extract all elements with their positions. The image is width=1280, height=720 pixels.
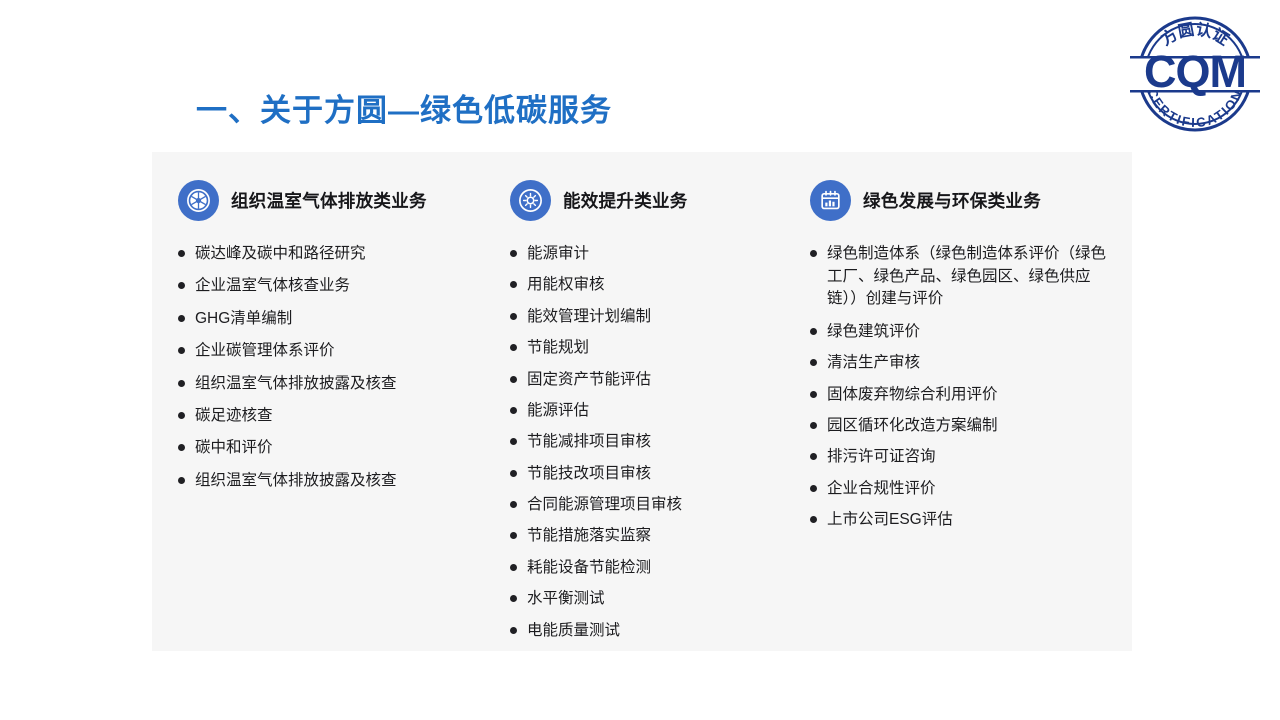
- sun-brightness-icon: [510, 180, 551, 221]
- list-item: 用能权审核: [510, 274, 780, 295]
- calendar-chart-icon: [810, 180, 851, 221]
- list-item: 水平衡测试: [510, 588, 780, 609]
- column-title: 组织温室气体排放类业务: [231, 188, 427, 213]
- service-list: 能源审计 用能权审核 能效管理计划编制 节能规划 固定资产节能评估 能源评估 节…: [510, 243, 780, 641]
- list-item: 园区循环化改造方案编制: [810, 415, 1110, 436]
- list-item: 碳中和评价: [178, 437, 498, 458]
- service-column-energy-efficiency: 能效提升类业务 能源审计 用能权审核 能效管理计划编制 节能规划 固定资产节能评…: [510, 180, 780, 651]
- list-item: 电能质量测试: [510, 620, 780, 641]
- list-item: 上市公司ESG评估: [810, 509, 1110, 530]
- service-column-greenhouse-gas: 组织温室气体排放类业务 碳达峰及碳中和路径研究 企业温室气体核查业务 GHG清单…: [178, 180, 498, 502]
- list-item: 企业温室气体核查业务: [178, 275, 498, 296]
- services-columns: 组织温室气体排放类业务 碳达峰及碳中和路径研究 企业温室气体核查业务 GHG清单…: [152, 152, 1132, 651]
- list-item: 企业合规性评价: [810, 478, 1110, 499]
- list-item: 绿色制造体系（绿色制造体系评价（绿色工厂、绿色产品、绿色园区、绿色供应链））创建…: [810, 243, 1110, 311]
- list-item: 能源评估: [510, 400, 780, 421]
- service-list: 绿色制造体系（绿色制造体系评价（绿色工厂、绿色产品、绿色园区、绿色供应链））创建…: [810, 243, 1110, 531]
- list-item: 组织温室气体排放披露及核查: [178, 373, 498, 394]
- column-header: 绿色发展与环保类业务: [810, 180, 1110, 221]
- list-item: 节能技改项目审核: [510, 463, 780, 484]
- list-item: 碳足迹核查: [178, 405, 498, 426]
- column-title: 能效提升类业务: [563, 188, 688, 213]
- service-column-green-development: 绿色发展与环保类业务 绿色制造体系（绿色制造体系评价（绿色工厂、绿色产品、绿色园…: [810, 180, 1110, 541]
- list-item: 企业碳管理体系评价: [178, 340, 498, 361]
- list-item: 固体废弃物综合利用评价: [810, 384, 1110, 405]
- list-item: 能效管理计划编制: [510, 306, 780, 327]
- column-header: 组织温室气体排放类业务: [178, 180, 498, 221]
- column-title: 绿色发展与环保类业务: [863, 188, 1041, 213]
- list-item: 节能措施落实监察: [510, 525, 780, 546]
- list-item: 合同能源管理项目审核: [510, 494, 780, 515]
- svg-text:CQM: CQM: [1144, 46, 1246, 97]
- cqm-certification-logo: 方圆认证 CERTIFICATION CQM: [1122, 8, 1268, 136]
- page-title: 一、关于方圆—绿色低碳服务: [196, 92, 612, 129]
- list-item: 节能减排项目审核: [510, 431, 780, 452]
- column-header: 能效提升类业务: [510, 180, 780, 221]
- list-item: 碳达峰及碳中和路径研究: [178, 243, 498, 264]
- list-item: 清洁生产审核: [810, 352, 1110, 373]
- list-item: 节能规划: [510, 337, 780, 358]
- services-panel: 组织温室气体排放类业务 碳达峰及碳中和路径研究 企业温室气体核查业务 GHG清单…: [152, 152, 1132, 651]
- aperture-icon: [178, 180, 219, 221]
- list-item: 组织温室气体排放披露及核查: [178, 470, 498, 491]
- list-item: 耗能设备节能检测: [510, 557, 780, 578]
- list-item: 绿色建筑评价: [810, 321, 1110, 342]
- service-list: 碳达峰及碳中和路径研究 企业温室气体核查业务 GHG清单编制 企业碳管理体系评价…: [178, 243, 498, 491]
- list-item: 排污许可证咨询: [810, 446, 1110, 467]
- list-item: 固定资产节能评估: [510, 369, 780, 390]
- list-item: GHG清单编制: [178, 308, 498, 329]
- list-item: 能源审计: [510, 243, 780, 264]
